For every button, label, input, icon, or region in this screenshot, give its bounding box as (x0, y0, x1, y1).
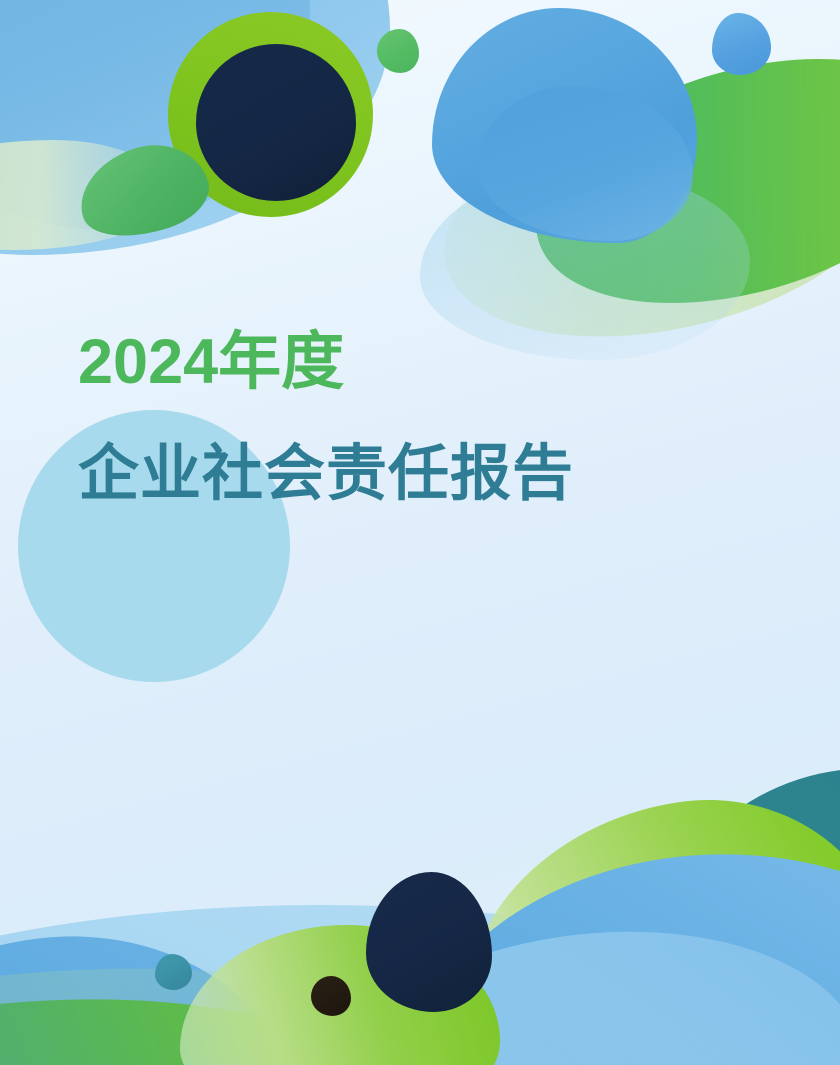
top-left-large-blue-blob-shape (0, 0, 390, 255)
cover-title-year: 2024年度 (78, 322, 698, 402)
top-green-crescent-shape (168, 12, 373, 217)
bottom-right-light-blue-overlay-shape (290, 906, 840, 1065)
report-cover-page: 2024年度 企业社会责任报告 (0, 0, 840, 1065)
bottom-navy-blob-shape (366, 872, 492, 1012)
bottom-left-pale-teal-shape (0, 939, 365, 1065)
top-green-oval-shape (68, 130, 218, 252)
bottom-small-dark-brown-dot-shape (311, 976, 351, 1016)
cover-title-block: 2024年度 企业社会责任报告 (78, 322, 698, 512)
top-right-blue-teardrop-inner-shape (478, 86, 693, 241)
bottom-right-teal-hill-shape (624, 745, 840, 1065)
top-left-blue-lens-shape (0, 0, 310, 230)
cover-title-main: 企业社会责任报告 (78, 434, 698, 512)
top-left-pale-green-sliver-shape (0, 140, 170, 250)
top-right-green-ellipse-shape (508, 15, 840, 347)
bottom-left-blue-hill-shape (0, 909, 316, 1065)
bottom-light-blue-arc-shape (0, 905, 840, 1065)
bottom-right-green-hill-shape (439, 773, 840, 1065)
top-navy-circle-shape (196, 44, 356, 201)
bottom-middle-green-blob-shape (180, 925, 500, 1065)
top-right-small-blue-blob-shape (712, 13, 771, 75)
bottom-small-teal-dot-shape (155, 954, 192, 990)
top-right-blue-teardrop-shape (432, 8, 697, 243)
bottom-left-teal-green-sweep-shape (0, 967, 441, 1065)
bottom-right-large-blue-blob-shape (385, 834, 840, 1065)
top-small-green-dot-shape (377, 29, 419, 73)
